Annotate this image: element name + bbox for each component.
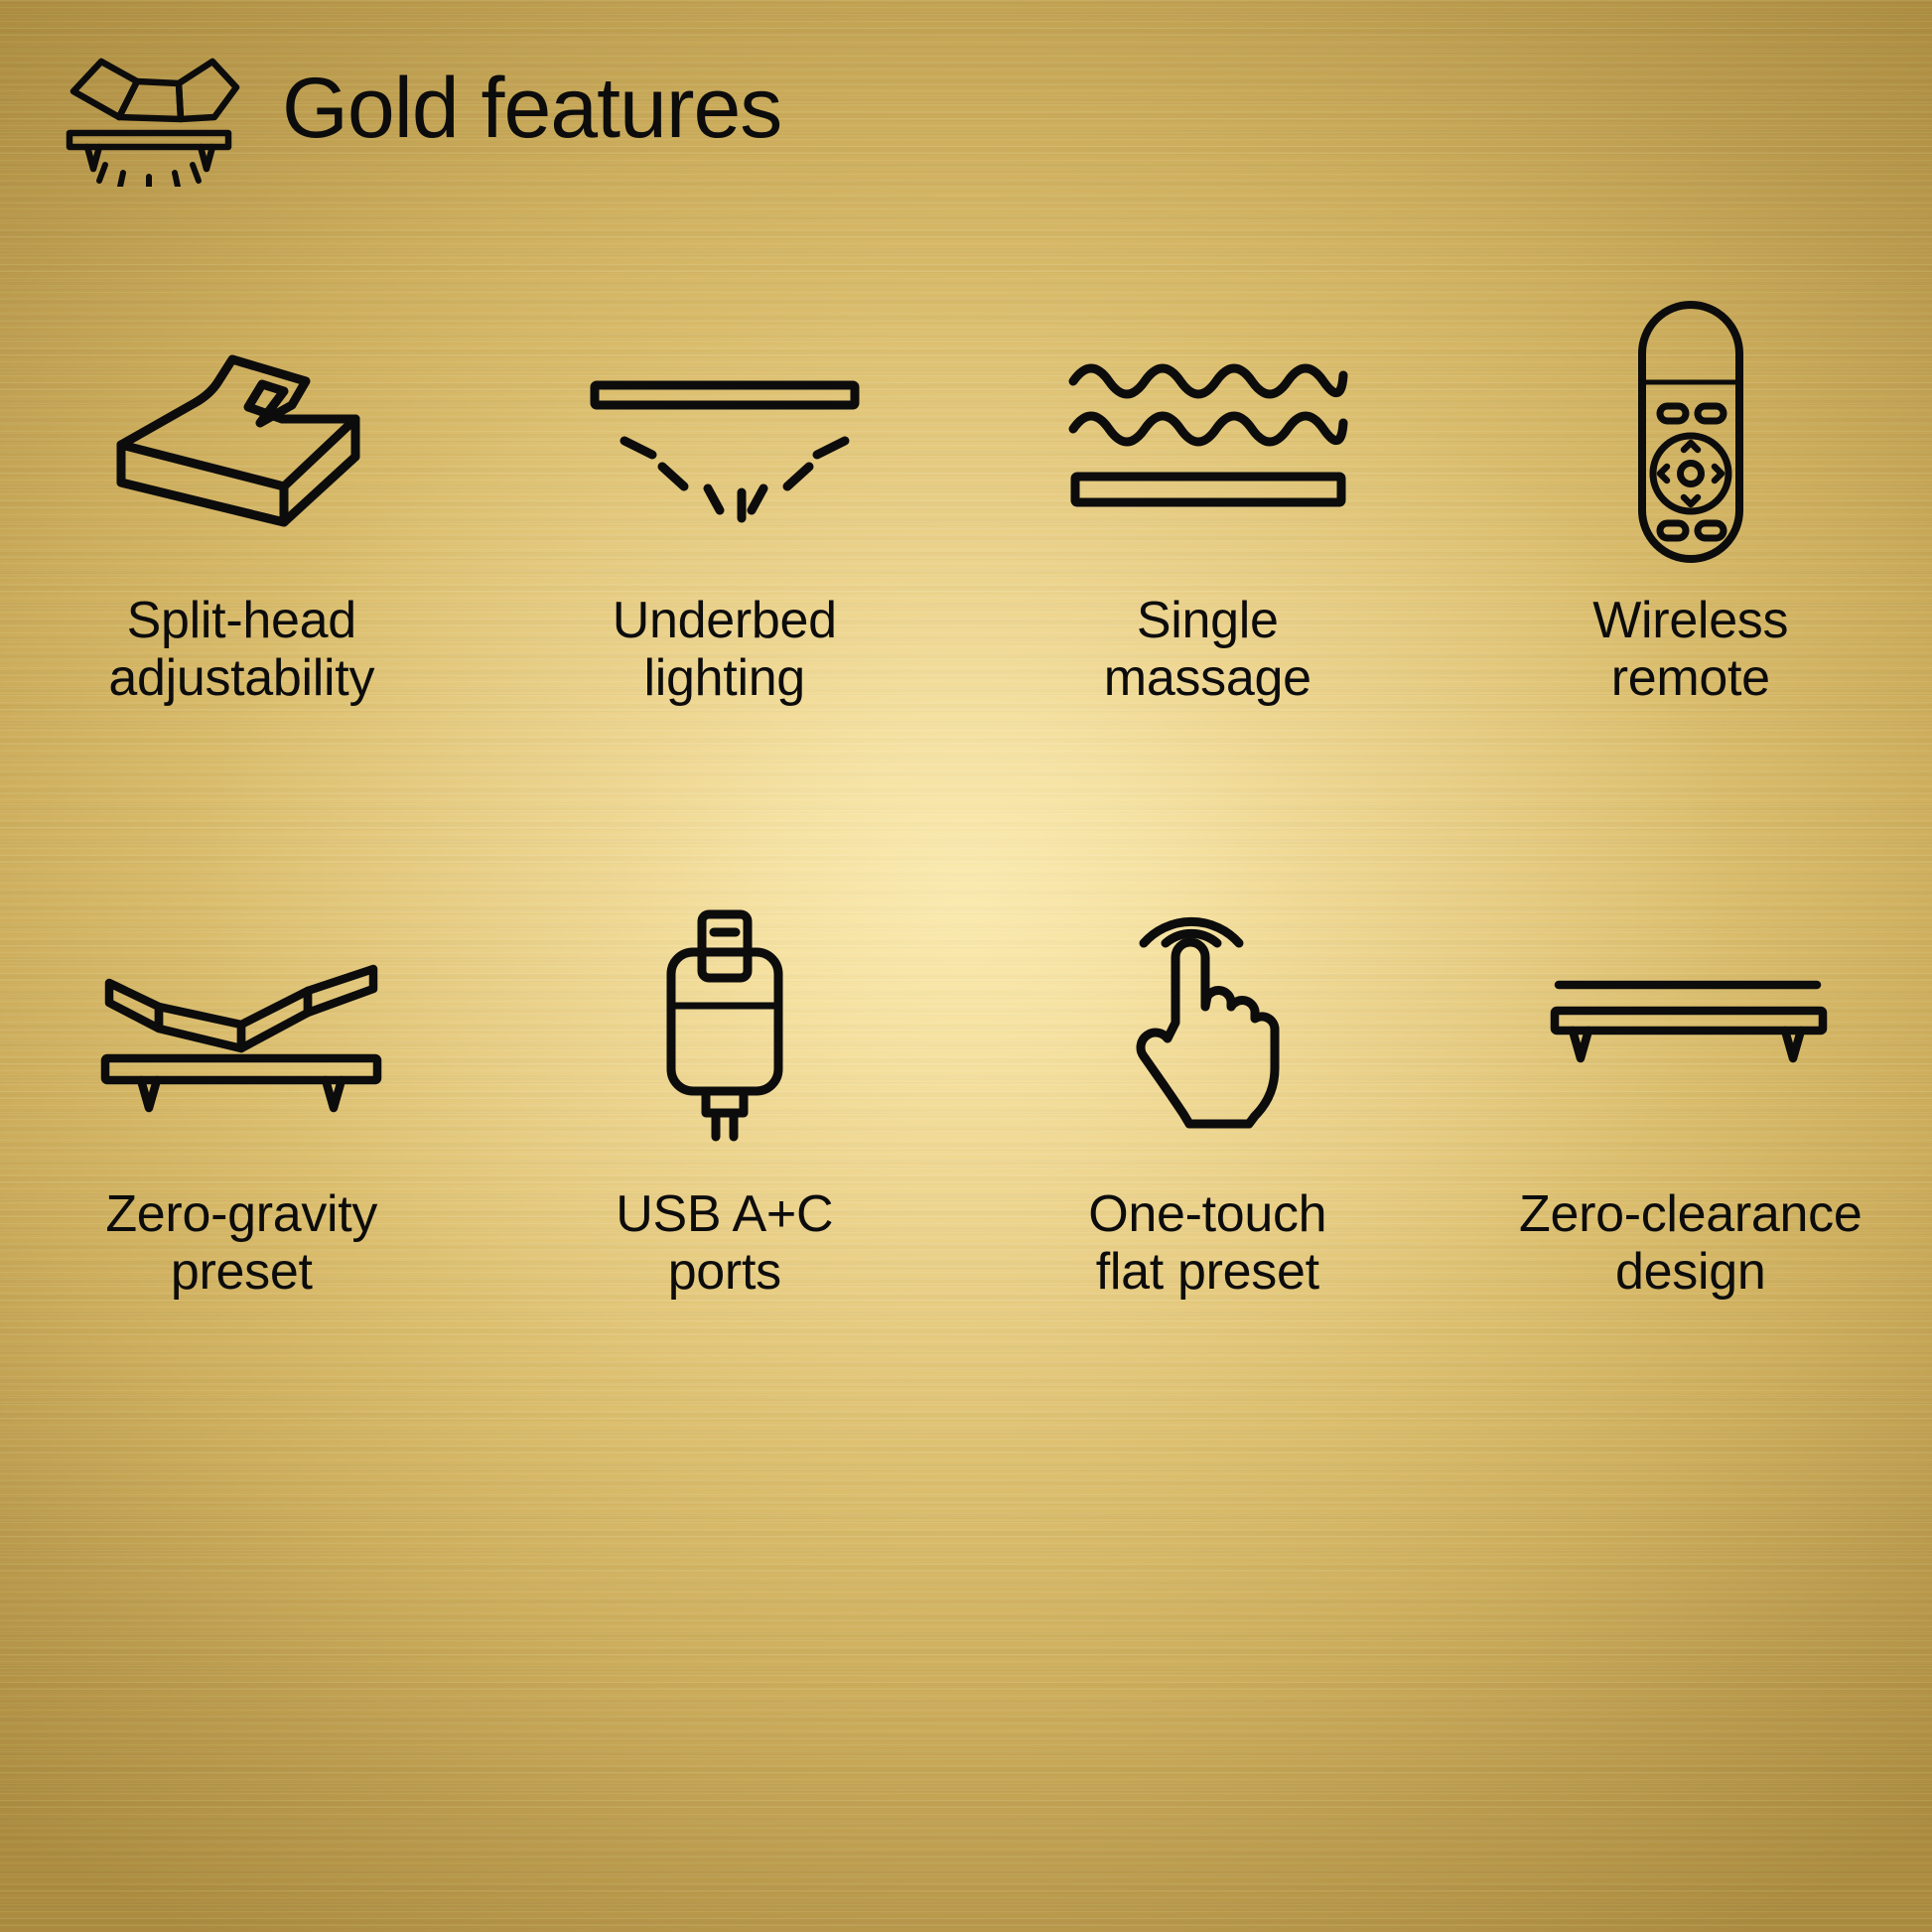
feature-label: Underbed lighting xyxy=(613,592,837,707)
feature-zero-clearance-design: Zero-clearance design xyxy=(1449,892,1932,1301)
feature-label: Split-head adjustability xyxy=(108,592,374,707)
feature-label: USB A+C ports xyxy=(616,1185,833,1301)
feature-row-1: Split-head adjustability xyxy=(0,298,1932,707)
remote-control-icon xyxy=(1449,298,1932,566)
underbed-light-bar-icon xyxy=(483,298,967,566)
header: Gold features xyxy=(62,48,781,187)
feature-usb-ports: USB A+C ports xyxy=(483,892,967,1301)
feature-zero-gravity-preset: Zero-gravity preset xyxy=(0,892,483,1301)
feature-row-2: Zero-gravity preset xyxy=(0,892,1932,1301)
zero-gravity-bed-icon xyxy=(0,892,483,1160)
massage-waves-icon xyxy=(966,298,1449,566)
gold-features-graphic: Gold features xyxy=(0,0,1932,1932)
adjustable-bed-with-underbed-light-icon xyxy=(62,48,246,187)
feature-label: Single massage xyxy=(1104,592,1311,707)
feature-one-touch-flat-preset: One-touch flat preset xyxy=(966,892,1449,1301)
feature-single-massage: Single massage xyxy=(966,298,1449,707)
feature-label: Zero-gravity preset xyxy=(105,1185,377,1301)
feature-split-head-adjustability: Split-head adjustability xyxy=(0,298,483,707)
flat-bed-base-icon xyxy=(1449,892,1932,1160)
usb-plug-icon xyxy=(483,892,967,1160)
feature-label: Zero-clearance design xyxy=(1519,1185,1863,1301)
tap-hand-icon xyxy=(966,892,1449,1160)
feature-label: One-touch flat preset xyxy=(1088,1185,1326,1301)
feature-label: Wireless remote xyxy=(1592,592,1788,707)
feature-wireless-remote: Wireless remote xyxy=(1449,298,1932,707)
split-head-mattress-icon xyxy=(0,298,483,566)
page-title: Gold features xyxy=(282,66,781,169)
feature-underbed-lighting: Underbed lighting xyxy=(483,298,967,707)
